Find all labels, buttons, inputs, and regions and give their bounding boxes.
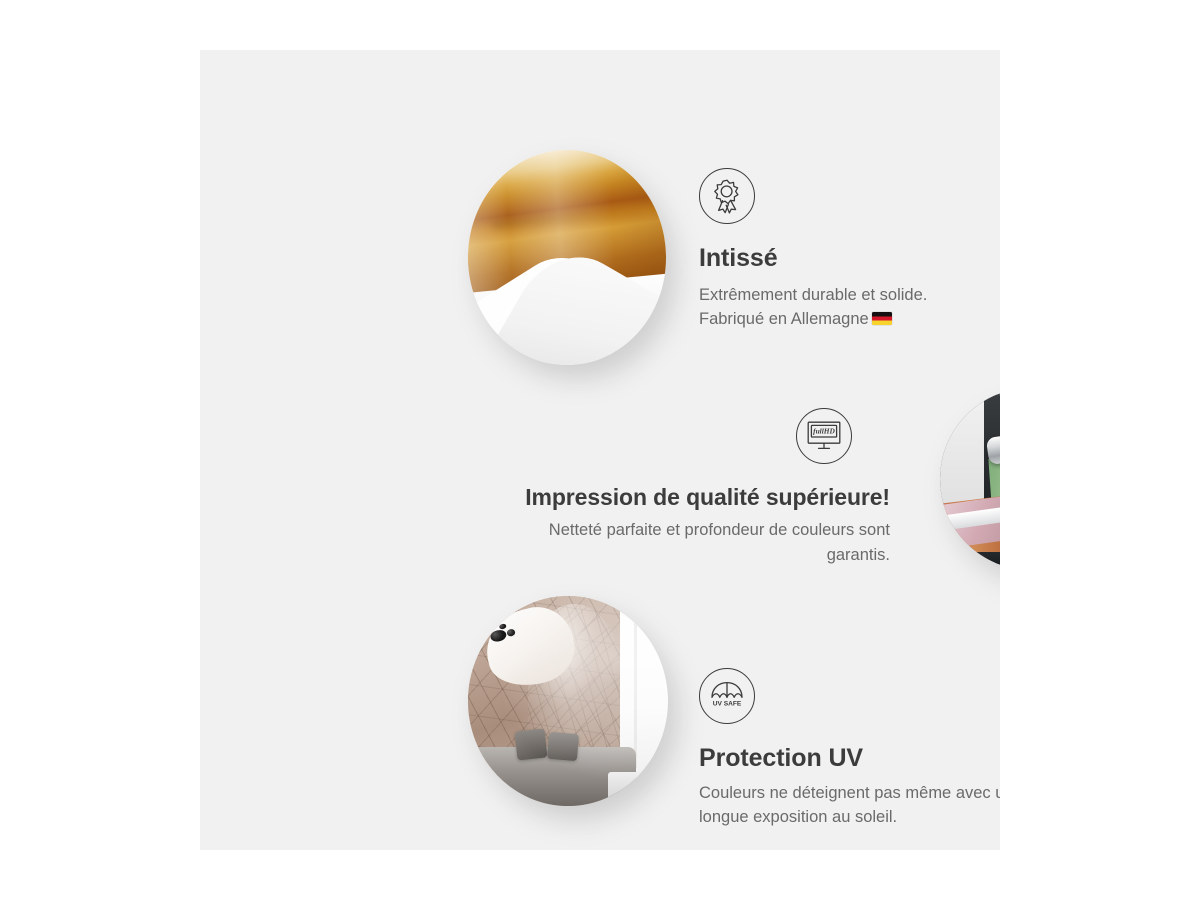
uv-safe-umbrella-icon: UV SAFE <box>699 668 755 724</box>
feature-description: Extrêmement durable et solide. Fabriqué … <box>699 283 1000 332</box>
large-format-printer-photo <box>940 388 1000 570</box>
feature-description-line1: Couleurs ne déteignent pas même avec une <box>699 784 1000 802</box>
feature-title: Impression de qualité supérieure! <box>490 484 890 510</box>
feature-uv-protection: UV SAFE Protection UV Couleurs ne déteig… <box>699 668 1000 830</box>
feature-title: Intissé <box>699 244 1000 273</box>
svg-text:fullHD: fullHD <box>813 426 835 435</box>
feature-description: Netteté parfaite et profondeur de couleu… <box>490 518 890 567</box>
feature-print-quality: fullHD Impression de qualité supérieure!… <box>490 408 890 567</box>
feature-description-line1: Extrêmement durable et solide. <box>699 286 927 304</box>
feature-description-line2: Fabriqué en Allemagne <box>699 310 869 328</box>
wallpaper-peeled-corner-photo <box>468 150 666 365</box>
award-rosette-icon <box>699 168 755 224</box>
svg-text:UV SAFE: UV SAFE <box>713 700 742 707</box>
feature-intisse: Intissé Extrêmement durable et solide. F… <box>699 168 1000 332</box>
printer-base <box>973 552 1000 570</box>
german-flag-icon <box>872 312 892 325</box>
screenshot-stage: Intissé Extrêmement durable et solide. F… <box>0 0 1200 900</box>
feature-title: Protection UV <box>699 744 1000 773</box>
room-light-glow <box>468 596 668 806</box>
fullhd-monitor-icon: fullHD <box>796 408 852 464</box>
feature-panel: Intissé Extrêmement durable et solide. F… <box>200 50 1000 850</box>
feature-description-line1: Netteté parfaite et profondeur de couleu… <box>549 521 890 539</box>
feature-description-line2: garantis. <box>827 546 890 564</box>
feature-description: Couleurs ne déteignent pas même avec une… <box>699 781 1000 830</box>
living-room-mural-photo <box>468 596 668 806</box>
feature-description-line2: longue exposition au soleil. <box>699 808 897 826</box>
